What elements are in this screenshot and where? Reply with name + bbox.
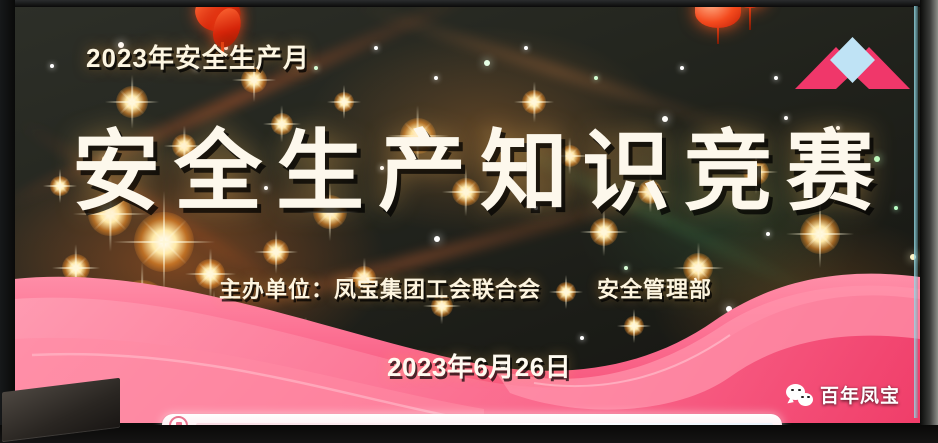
screen-bezel-right [920,0,938,443]
sparkle-dot [524,46,528,50]
sparkle-dot [894,206,898,210]
screen-bezel-top [0,0,938,7]
sparkle [522,90,546,114]
slide-kicker: 2023年安全生产月 [86,38,310,75]
screen-bezel-left [0,0,15,443]
sparkle-dot [314,66,318,70]
sparkle-dot [434,236,440,242]
event-date: 2023年6月26日 [387,347,571,384]
sparkle-dot [434,76,438,80]
sparkle [50,176,70,196]
sparkle-dot [50,64,54,68]
screen-edge-highlight [914,6,918,418]
light-streak [353,6,755,139]
sparkle-dot [374,46,378,50]
sparkle [334,92,354,112]
organizer-row: 主办单位：凤宝集团工会联合会 安全管理部 [219,272,712,304]
sparkle-dot [766,232,770,236]
projection-screen: 2023年安全生产月 安全生产知识竞赛 主办单位：凤宝集团工会联合会 安全管理部… [14,6,920,423]
pink-ribbon-swirl [14,243,920,423]
sparkle [590,218,618,246]
photo-of-presentation-screen: 2023年安全生产月 安全生产知识竞赛 主办单位：凤宝集团工会联合会 安全管理部… [0,0,938,443]
wechat-icon [786,384,813,406]
watermark-text: 百年凤宝 [820,381,900,408]
watermark: 百年凤宝 [786,381,900,408]
fengbao-group-logo [795,31,910,93]
sparkle-dot [484,60,490,66]
organizer-unit: 主办单位：凤宝集团工会联合会 [219,272,541,304]
sparkle [116,86,148,118]
sparkle-dot [594,76,598,80]
organizer-department: 安全管理部 [597,272,712,304]
slide-title: 安全生产知识竞赛 [72,128,872,216]
sparkle-dot [784,116,788,120]
sparkle-dot [680,66,684,70]
screen-bezel-bottom [0,425,938,443]
sparkle-dot [774,76,778,80]
